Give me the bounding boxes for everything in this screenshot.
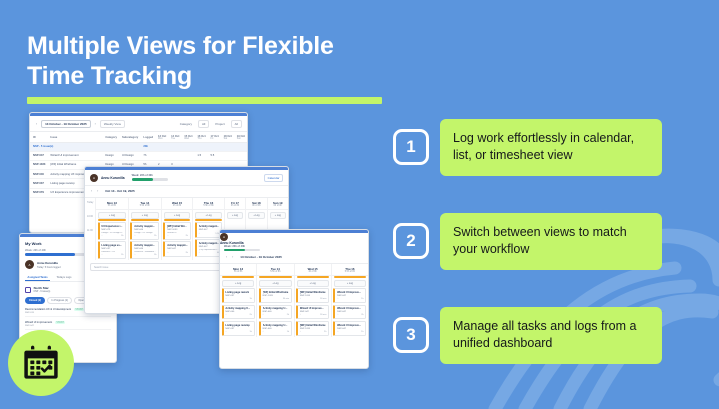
entry-title: Activity mappin... [199,242,220,245]
row-day-0[interactable] [155,151,168,160]
entry-duration: 2h [186,235,188,237]
calendar-header: A Annu Kurunilla Week: 23h of 40h Calend… [85,170,288,186]
user-today-logged: Today: 5 hours logged [37,266,61,269]
row-day-5[interactable] [221,151,234,160]
entry-key: NSP-1033 [300,328,326,330]
log-entry-card[interactable]: Activity mappin... NSP-040 Research - Fe… [130,241,159,258]
day-column: Tue 14 5.5h of 8h + Log Activity mappin.… [129,198,162,260]
entry-meta: Design - UX Design [134,232,156,234]
entry-key: NSP-047 [199,229,220,231]
entry-title: Activity mapping U... [263,324,289,327]
entry-key: NSP-037 [225,295,251,297]
entry-key: NSP-040 [225,311,251,313]
entry-key: NSP-047 [300,311,326,313]
col-subcategory[interactable]: Subcategory [119,132,140,142]
list-item[interactable]: Wizard UI improvement Closed NSP-047 [25,321,111,330]
filter-value-category[interactable]: All [198,120,209,128]
date-range-label[interactable]: 13 October - 19 October 2025 [41,120,91,128]
entry-title: [WF] Initial Wir... [167,225,188,228]
step-text: Manage all tasks and logs from a unified… [453,318,649,353]
chip-closed[interactable]: Closed (2) [25,297,45,304]
status-badge: Closed [74,308,84,311]
entry-icon: ○ [337,331,338,333]
log-entry-card[interactable]: Activity mapping U... NSP-040 ○2h [259,305,292,320]
entry-icon: ○ [337,298,338,300]
log-entry-card[interactable]: UX Experience i... NSP-079 Design - UX D… [98,222,127,239]
log-entry-card[interactable]: Listing page revamp NSP-037 ○1h [222,321,255,336]
entry-duration: 2h [186,252,188,254]
log-entry-card[interactable]: Wizard UI improve... NSP-047 ○30 min [296,305,329,320]
day-column: Wed 15 4h of 8h + Log [WF] Initial Wiref… [295,264,332,337]
entry-key: NSP-040 [263,311,289,313]
step-text: Log work effortlessly in calendar, list,… [453,130,649,165]
entry-icon: ○ [199,233,200,235]
entry-title: Activity mapping U... [225,307,251,310]
entry-title: Activity mappin... [134,225,156,228]
entry-duration: 2h [361,314,363,316]
row-id: NSP-1033 [30,161,47,170]
add-log-button[interactable]: + Log [222,280,254,287]
entry-title: [WF] Initial Wireframe [300,324,326,327]
entry-icon: ○ [337,314,338,316]
gutter-label-0: Today [85,198,95,212]
add-log-button[interactable]: + Log [131,212,159,219]
step-text-box: Log work effortlessly in calendar, list,… [440,119,662,176]
add-log-button[interactable]: + Log [195,212,221,219]
entry-title: Activity mappin... [167,244,188,247]
day-hours: 0h of 0h [246,205,266,207]
day-header: Wed 15 4h of 8h [295,264,331,276]
week-progress: Week: 23h of 40h [132,174,168,180]
entry-key: NSP-047 [167,248,188,250]
entry-title: Activity mappin... [134,244,156,247]
log-entry-card[interactable]: Wizard UI improve... NSP-047 ○2h [333,305,366,320]
entry-duration: 30 min [320,298,326,300]
day-header: Mon 13 5h of 8h [220,264,256,276]
timesheet-header-row: ID Issue Category Subcategory Logged 13 … [30,132,247,142]
filter-value-project[interactable]: All [231,120,242,128]
entry-icon: ○ [300,298,301,300]
entry-title: Listing page revamp [225,324,251,327]
row-id: NSP-037 [30,179,47,188]
headline-line-2: Time Tracking [27,62,192,90]
log-entry-card[interactable]: Activity mapping U... NSP-040 ○1h [259,321,292,336]
entry-title: [WF] Initial Wireframe [300,291,326,294]
add-log-button[interactable]: + Log [227,212,243,219]
project-name: North Star [34,286,51,290]
prev-week-button[interactable]: ‹ [225,255,228,259]
row-logged: 7h [140,151,155,160]
week-summary-label: Week: 23h of 40h [224,245,368,248]
log-entry-card[interactable]: [WF] Initial Wireframe NSP-1033 ○30 min [259,288,292,303]
day-name: Mon 13 [96,201,128,205]
log-entry-card[interactable]: [WF] Initial Wir... NSP-1033 Wizard UI ○… [163,222,190,239]
entry-meta: Design - UX Design R... [101,232,123,234]
entry-duration: 1h [250,298,252,300]
add-log-button[interactable]: + Log [164,212,190,219]
entry-duration: 3h [121,235,123,237]
col-logged[interactable]: Logged [140,132,155,142]
day-capacity-bar [259,276,291,278]
entry-key: NSP-1033 [263,295,289,297]
entry-key: NSP-047 [337,311,363,313]
day-name: Sat 18 [246,201,266,205]
group-days [155,142,247,151]
next-week-button[interactable]: › [96,189,99,193]
entry-icon: ○ [134,254,135,256]
task-title: Recommendation UX & UI development [25,308,71,311]
add-log-button[interactable]: + Log [270,212,286,219]
day-name: Sun [237,138,246,140]
project-issue-count: NSP - 6 issue(s) [34,291,51,293]
day-header: Thu 16 5.5h of 8h [332,264,368,276]
log-entry-card[interactable]: Activity mapping U... NSP-040 ○2h [222,305,255,320]
col-id[interactable]: ID [30,132,47,142]
task-title: Wizard UI improvement [25,321,52,324]
day-header: Tue 14 5.5h of 8h [257,264,293,276]
prev-week-button[interactable]: ‹ [35,122,38,126]
entry-title: Wizard UI improve... [337,291,363,294]
entry-title: Activity mappin... [199,225,220,228]
row-subcategory: UI Design [119,151,140,160]
col-issue[interactable]: Issue [47,132,102,142]
col-day-5[interactable]: 18 Oct Sat [221,132,234,142]
gutter-label-1: 10:00 [85,212,95,226]
day-name: Fri [211,138,220,140]
day-hours: 3h of 8h [225,205,245,207]
log-entry-card[interactable]: Listing page rework NSP-037 ○1h [222,288,255,303]
entry-key: NSP-040 [263,328,289,330]
day-name: Mon [158,138,167,140]
day-name: Wed 15 [295,267,331,271]
avatar: A [25,260,34,269]
step-text: Switch between views to match your workf… [453,224,649,259]
log-entry-card[interactable]: Activity mappin... NSP-047 ○2h [163,241,190,256]
calendar-header: A Annu Kurunilla Week: 23h of 40h [220,233,368,251]
entry-icon: ○ [225,298,226,300]
entry-meta: Research - Feedback ... [134,251,156,253]
add-log-button[interactable]: + Log [259,280,291,287]
day-capacity-bar [297,276,329,278]
entry-key: NSP-1033 [300,295,326,297]
row-day-6[interactable] [234,151,247,160]
row-id: NSP-047 [30,151,47,160]
day-name: Sun 19 [268,201,288,205]
entry-icon: ○ [300,314,301,316]
day-name: Wed [184,138,193,140]
step-text-box: Manage all tasks and logs from a unified… [440,307,662,364]
time-gutter: Today 10:00 11:00 [85,198,96,260]
day-name: Thu [197,138,206,140]
calendar-range-label: 13 October - 19 October 2025 [237,254,285,260]
row-issue: Wizard UI improvement [47,151,102,160]
day-hours: 5.5h of 8h [193,205,223,207]
step-number-badge: 1 [393,129,429,165]
status-badge: Closed [55,321,65,324]
title-underline-rule [27,97,382,104]
step-1: 1 Log work effortlessly in calendar, lis… [393,119,662,176]
step-3: 3 Manage all tasks and logs from a unifi… [393,307,662,364]
row-id: NSP-079 [30,188,47,197]
project-icon [25,287,31,293]
entry-icon: ○ [101,235,102,237]
day-header: Thu 16 5.5h of 8h [193,198,223,210]
day-column: Tue 14 5.5h of 8h + Log [WF] Initial Wir… [257,264,294,337]
day-header: Fri 17 3h of 8h [225,198,245,210]
day-header: Wed 15 4h of 8h [162,198,192,210]
col-day-4[interactable]: 17 Oct Fri [208,132,221,142]
next-week-button[interactable]: › [94,122,97,126]
entry-duration: 1h [287,331,289,333]
task-key: NSP-047 [25,325,111,327]
entry-key: NSP-047 [337,295,363,297]
entry-key: NSP-037 [225,328,251,330]
entry-duration: 2h [287,314,289,316]
col-day-1[interactable]: 14 Oct Tue [168,132,181,142]
slide-canvas: Multiple Views for Flexible Time Trackin… [0,0,719,409]
day-header: Sun 19 0h of 0h [268,198,288,210]
calendar-range-label: Oct 13 - Oct 19, 2025 [102,188,137,194]
add-log-button[interactable]: + Log [98,212,126,219]
row-day-3[interactable]: 1.5 [194,151,207,160]
calendar-date-nav: ‹ › Oct 13 - Oct 19, 2025 [85,186,288,199]
day-name: Tue 14 [129,201,161,205]
tab-assigned-tasks[interactable]: Assigned Tasks [25,274,50,281]
week-progress-fill [25,253,75,255]
row-day-1[interactable] [168,151,181,160]
avatar: A [220,233,228,241]
entry-duration: 3h [154,254,156,256]
entry-title: UX Experience i... [101,225,123,228]
entry-title: Activity mapping U... [263,307,289,310]
add-log-button[interactable]: + Log [334,280,366,287]
col-day-0[interactable]: 13 Oct Mon [155,132,168,142]
entry-icon: ○ [225,314,226,316]
chip-in-progress[interactable]: In Progress (1) [47,297,72,304]
day-name: Thu 16 [193,201,223,205]
filter-label-project: Project [212,121,227,127]
entry-duration: 1h [361,298,363,300]
group-logged: 23h [140,142,155,151]
filter-label-category: Category [177,121,195,127]
user-name: Annu Kurunilla [37,261,61,265]
gutter-label-2: 11:00 [85,226,95,240]
week-progress-fill [132,178,153,180]
entry-meta: Wizard UI [167,232,188,234]
view-select[interactable]: Weekly View [100,120,125,128]
day-hours: 0h of 0h [268,205,288,207]
day-column: Wed 15 4h of 8h + Log [WF] Initial Wir..… [162,198,193,260]
calendar-check-badge [8,330,74,396]
day-capacity-bar [222,276,254,278]
col-day-3[interactable]: 16 Oct Thu [194,132,207,142]
timesheet-toolbar: ‹ 13 October - 19 October 2025 › Weekly … [30,116,247,132]
table-row[interactable]: NSP-047 Wizard UI improvement Design UI … [30,151,247,160]
entry-title: [WF] Initial Wireframe [263,291,289,294]
entry-duration: 2h [121,254,123,256]
entry-icon: ○ [101,254,102,256]
day-name: Mon 13 [220,267,256,271]
row-day-2[interactable] [181,151,194,160]
day-header: Tue 14 5.5h of 8h [129,198,161,210]
day-header: Mon 13 5h of 8h [96,198,128,210]
day-name: Fri 17 [225,201,245,205]
col-day-6[interactable]: 19 Oct Sun [234,132,247,142]
tab-todays-logs[interactable]: Todays Logs [54,274,74,281]
day-header: Sat 18 0h of 0h [246,198,266,210]
entry-title: Listing page us... [101,244,123,247]
log-entry-card[interactable]: [WF] Initial Wireframe NSP-1033 ○2h [296,321,329,336]
entry-icon: ○ [263,298,264,300]
day-name: Thu 16 [332,267,368,271]
step-2: 2 Switch between views to match your wor… [393,213,662,270]
day-hours: 5h of 8h [220,271,256,273]
entry-key: NSP-047 [337,328,363,330]
row-day-4[interactable]: 5.5 [208,151,221,160]
entry-title: Listing page rework [225,291,251,294]
log-entry-card[interactable]: Wizard UI improve... NSP-047 ○1h [333,288,366,303]
day-hours: 5.5h of 8h [129,205,161,207]
entry-icon: ○ [199,252,200,254]
day-name: Tue [171,138,180,140]
day-capacity-bar [98,219,126,221]
step-number-badge: 3 [393,317,429,353]
step-text-box: Switch between views to match your workf… [440,213,662,270]
calendar-day-grid: Mon 13 5h of 8h + Log Listing page rewor… [220,264,368,337]
entry-icon: ○ [225,331,226,333]
entry-duration: 2h [250,314,252,316]
day-hours: 5h of 8h [96,205,128,207]
calendar-date-nav: ‹ › 13 October - 19 October 2025 [220,251,368,264]
day-hours: 5.5h of 8h [257,271,293,273]
row-id: NSP-040 [30,170,47,179]
col-day-2[interactable]: 15 Oct Wed [181,132,194,142]
entry-duration: 2h [324,331,326,333]
col-category[interactable]: Category [102,132,119,142]
entry-title: Wizard UI improve... [337,324,363,327]
entry-meta: [TW] Improvement t... [199,249,220,251]
step-number-badge: 2 [393,223,429,259]
entry-icon: ○ [167,235,168,237]
day-column: Thu 16 5.5h of 8h + Log Wizard UI improv… [332,264,368,337]
entry-duration: 30 min [320,314,326,316]
entry-duration: 2h [154,235,156,237]
add-log-button[interactable]: + Log [248,212,264,219]
calendar-view-link[interactable]: Calendar [264,174,283,182]
day-column: Mon 13 5h of 8h + Log UX Experience i...… [96,198,129,260]
day-name: Wed 15 [162,201,192,205]
log-entry-card[interactable]: [WF] Initial Wireframe NSP-1033 ○30 min [296,288,329,303]
group-label: NSP - 5 issue(s) [30,142,140,151]
add-log-button[interactable]: + Log [297,280,329,287]
calendar-window-front[interactable]: A Annu Kurunilla Week: 23h of 40h ‹ › 13… [219,229,369,369]
week-summary-label: Week: 23h of 40h [132,174,168,177]
avatar: A [90,174,98,182]
table-group-row[interactable]: NSP - 5 issue(s) 23h [30,142,247,151]
entry-duration: 1h [250,331,252,333]
day-name: Tue 14 [257,267,293,271]
page-title: Multiple Views for Flexible Time Trackin… [27,32,407,91]
calendar-user-name: Annu Kurunilla [101,176,125,180]
day-capacity-bar [131,219,159,221]
day-hours: 5.5h of 8h [332,271,368,273]
entry-icon: ○ [263,314,264,316]
entry-meta: Research - UX [101,251,123,253]
entry-icon: ○ [263,331,264,333]
day-column: Mon 13 5h of 8h + Log Listing page rewor… [220,264,257,337]
headline-line-1: Multiple Views for Flexible [27,32,334,60]
log-entry-card[interactable]: Wizard UI improve... NSP-047 ○1h [333,321,366,336]
calendar-check-icon [21,343,61,383]
entry-icon: ○ [300,331,301,333]
next-week-button[interactable]: › [231,255,234,259]
day-capacity-bar [334,276,366,278]
prev-week-button[interactable]: ‹ [90,189,93,193]
row-category: Design [102,151,119,160]
entry-title: Wizard UI improve... [300,307,326,310]
entry-duration: 30 min [283,298,289,300]
day-hours: 4h of 8h [295,271,331,273]
entry-icon: ○ [167,252,168,254]
day-capacity-bar [164,219,190,221]
week-progress-track [132,178,168,180]
log-entry-card[interactable]: Listing page us... NSP-037 Research - UX… [98,241,127,258]
log-entry-card[interactable]: Activity mappin... NSP-040 Design - UX D… [130,222,159,239]
day-capacity-bar [195,219,221,221]
day-hours: 4h of 8h [162,205,192,207]
day-name: Sat [224,138,233,140]
entry-duration: 1h [361,331,363,333]
entry-icon: ○ [134,235,135,237]
entry-title: Wizard UI improve... [337,307,363,310]
